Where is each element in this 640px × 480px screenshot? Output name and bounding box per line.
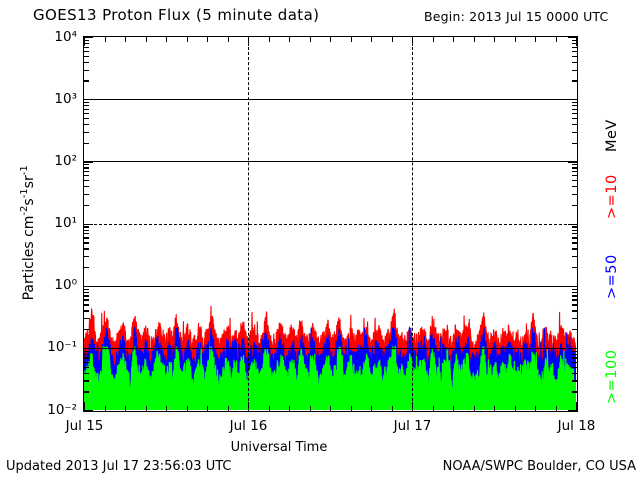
y-tick-label: 10⁰ bbox=[31, 277, 77, 293]
y-major-tick bbox=[84, 286, 93, 287]
y-minor-tick bbox=[84, 256, 89, 257]
day-divider bbox=[412, 37, 413, 411]
y-tick-label: 10⁻² bbox=[31, 402, 77, 418]
y-minor-tick bbox=[572, 230, 577, 231]
y-minor-tick bbox=[84, 80, 89, 81]
x-minor-tick bbox=[556, 406, 557, 411]
gridline-solid bbox=[84, 286, 577, 287]
x-minor-tick bbox=[453, 406, 454, 411]
x-major-tick bbox=[412, 37, 413, 46]
x-tick-label: Jul 18 bbox=[558, 418, 596, 434]
y-axis-exp-2: -1 bbox=[19, 188, 30, 198]
y-major-tick bbox=[568, 161, 577, 162]
y-minor-tick bbox=[84, 304, 89, 305]
y-minor-tick bbox=[572, 167, 577, 168]
x-major-tick bbox=[248, 402, 249, 411]
y-minor-tick bbox=[572, 143, 577, 144]
y-major-tick bbox=[568, 224, 577, 225]
y-minor-tick bbox=[84, 171, 89, 172]
y-major-tick bbox=[84, 410, 93, 411]
y-minor-tick bbox=[572, 233, 577, 234]
plot-area bbox=[84, 37, 577, 411]
y-minor-tick bbox=[84, 132, 89, 133]
x-minor-tick bbox=[371, 406, 372, 411]
y-minor-tick bbox=[84, 164, 89, 165]
y-minor-tick bbox=[572, 226, 577, 227]
threshold-line bbox=[84, 348, 577, 349]
y-minor-tick bbox=[572, 391, 577, 392]
x-minor-tick bbox=[207, 406, 208, 411]
x-minor-tick bbox=[474, 406, 475, 411]
x-axis-title: Universal Time bbox=[231, 440, 328, 455]
x-minor-tick bbox=[535, 406, 536, 411]
begin-timestamp: Begin: 2013 Jul 15 0000 UTC bbox=[424, 9, 608, 24]
y-minor-tick bbox=[84, 124, 89, 125]
gridline-solid bbox=[84, 99, 577, 100]
y-minor-tick bbox=[572, 289, 577, 290]
y-minor-tick bbox=[572, 295, 577, 296]
y-minor-tick bbox=[572, 318, 577, 319]
x-minor-tick bbox=[289, 406, 290, 411]
x-minor-tick bbox=[187, 406, 188, 411]
y-minor-tick bbox=[84, 102, 89, 103]
y-minor-tick bbox=[572, 175, 577, 176]
gridline-dashed bbox=[84, 224, 577, 225]
x-minor-tick bbox=[125, 406, 126, 411]
y-minor-tick bbox=[572, 102, 577, 103]
y-minor-tick bbox=[572, 109, 577, 110]
x-minor-tick bbox=[392, 37, 393, 42]
y-minor-tick bbox=[84, 205, 89, 206]
y-major-tick bbox=[84, 99, 93, 100]
x-minor-tick bbox=[146, 406, 147, 411]
y-minor-tick bbox=[84, 357, 89, 358]
x-minor-tick bbox=[515, 406, 516, 411]
y-minor-tick bbox=[84, 226, 89, 227]
y-axis-exp-3: -1 bbox=[19, 165, 30, 175]
y-minor-tick bbox=[84, 292, 89, 293]
y-minor-tick bbox=[84, 118, 89, 119]
y-axis-title-mid: s bbox=[21, 198, 37, 205]
x-minor-tick bbox=[269, 406, 270, 411]
x-minor-tick bbox=[207, 37, 208, 42]
y-minor-tick bbox=[572, 80, 577, 81]
y-minor-tick bbox=[84, 70, 89, 71]
x-major-tick bbox=[84, 402, 85, 411]
y-minor-tick bbox=[572, 354, 577, 355]
gridline-solid bbox=[84, 161, 577, 162]
y-minor-tick bbox=[84, 143, 89, 144]
legend-unit-label: MeV bbox=[604, 119, 620, 152]
x-minor-tick bbox=[515, 37, 516, 42]
y-major-tick bbox=[84, 224, 93, 225]
y-major-tick bbox=[84, 37, 93, 38]
x-tick-label: Jul 15 bbox=[66, 418, 104, 434]
legend-entry-label: >=10 bbox=[604, 174, 620, 219]
y-minor-tick bbox=[84, 310, 89, 311]
y-minor-tick bbox=[572, 362, 577, 363]
x-major-tick bbox=[84, 37, 85, 46]
y-minor-tick bbox=[572, 105, 577, 106]
y-minor-tick bbox=[572, 304, 577, 305]
y-minor-tick bbox=[84, 186, 89, 187]
x-minor-tick bbox=[433, 37, 434, 42]
y-minor-tick bbox=[572, 70, 577, 71]
x-minor-tick bbox=[166, 37, 167, 42]
y-axis-title-base: Particles cm bbox=[21, 216, 37, 301]
y-minor-tick bbox=[572, 47, 577, 48]
y-minor-tick bbox=[84, 299, 89, 300]
y-minor-tick bbox=[84, 391, 89, 392]
y-minor-tick bbox=[84, 295, 89, 296]
x-minor-tick bbox=[310, 37, 311, 42]
y-minor-tick bbox=[84, 267, 89, 268]
day-divider bbox=[248, 37, 249, 411]
y-tick-label: 10¹ bbox=[31, 215, 77, 231]
y-minor-tick bbox=[572, 205, 577, 206]
plot-frame bbox=[83, 36, 578, 412]
legend-entry-label: >=100 bbox=[604, 350, 620, 404]
y-minor-tick bbox=[84, 109, 89, 110]
y-minor-tick bbox=[572, 113, 577, 114]
x-minor-tick bbox=[453, 37, 454, 42]
y-minor-tick bbox=[84, 354, 89, 355]
page-title: GOES13 Proton Flux (5 minute data) bbox=[33, 6, 319, 24]
x-major-tick bbox=[576, 37, 577, 46]
y-minor-tick bbox=[84, 56, 89, 57]
y-minor-tick bbox=[572, 267, 577, 268]
x-minor-tick bbox=[105, 37, 106, 42]
source-credit: NOAA/SWPC Boulder, CO USA bbox=[443, 459, 636, 474]
y-minor-tick bbox=[572, 367, 577, 368]
x-minor-tick bbox=[187, 37, 188, 42]
y-major-tick bbox=[568, 286, 577, 287]
y-major-tick bbox=[568, 99, 577, 100]
y-minor-tick bbox=[84, 373, 89, 374]
x-major-tick bbox=[412, 402, 413, 411]
x-tick-label: Jul 16 bbox=[230, 418, 268, 434]
y-minor-tick bbox=[572, 256, 577, 257]
x-major-tick bbox=[248, 37, 249, 46]
y-minor-tick bbox=[84, 230, 89, 231]
y-minor-tick bbox=[572, 124, 577, 125]
x-minor-tick bbox=[433, 406, 434, 411]
y-minor-tick bbox=[84, 242, 89, 243]
y-minor-tick bbox=[84, 180, 89, 181]
y-minor-tick bbox=[572, 180, 577, 181]
y-minor-tick bbox=[84, 318, 89, 319]
y-minor-tick bbox=[572, 380, 577, 381]
y-minor-tick bbox=[84, 51, 89, 52]
y-minor-tick bbox=[84, 47, 89, 48]
y-minor-tick bbox=[572, 194, 577, 195]
y-major-tick bbox=[84, 161, 93, 162]
y-minor-tick bbox=[572, 171, 577, 172]
x-minor-tick bbox=[474, 37, 475, 42]
y-minor-tick bbox=[572, 237, 577, 238]
updated-timestamp: Updated 2013 Jul 17 23:56:03 UTC bbox=[6, 459, 231, 474]
legend-entry-label: >=50 bbox=[604, 254, 620, 299]
x-minor-tick bbox=[228, 406, 229, 411]
y-tick-label: 10⁴ bbox=[31, 29, 77, 45]
x-minor-tick bbox=[105, 406, 106, 411]
y-minor-tick bbox=[84, 237, 89, 238]
y-minor-tick bbox=[84, 362, 89, 363]
y-minor-tick bbox=[572, 118, 577, 119]
x-minor-tick bbox=[330, 406, 331, 411]
y-axis-title-mid2: sr bbox=[21, 175, 37, 188]
y-minor-tick bbox=[84, 248, 89, 249]
y-minor-tick bbox=[84, 329, 89, 330]
y-minor-tick bbox=[572, 56, 577, 57]
x-minor-tick bbox=[310, 406, 311, 411]
y-minor-tick bbox=[84, 367, 89, 368]
x-minor-tick bbox=[556, 37, 557, 42]
y-minor-tick bbox=[84, 105, 89, 106]
y-minor-tick bbox=[84, 233, 89, 234]
y-minor-tick bbox=[572, 242, 577, 243]
y-minor-tick bbox=[572, 248, 577, 249]
y-minor-tick bbox=[84, 194, 89, 195]
y-tick-label: 10⁻¹ bbox=[31, 339, 77, 355]
x-minor-tick bbox=[146, 37, 147, 42]
y-minor-tick bbox=[572, 310, 577, 311]
x-minor-tick bbox=[228, 37, 229, 42]
x-minor-tick bbox=[269, 37, 270, 42]
y-tick-label: 10² bbox=[31, 153, 77, 169]
x-minor-tick bbox=[494, 37, 495, 42]
y-minor-tick bbox=[572, 51, 577, 52]
y-minor-tick bbox=[572, 373, 577, 374]
y-minor-tick bbox=[572, 132, 577, 133]
y-minor-tick bbox=[572, 329, 577, 330]
x-minor-tick bbox=[392, 406, 393, 411]
y-minor-tick bbox=[572, 164, 577, 165]
x-minor-tick bbox=[330, 37, 331, 42]
x-minor-tick bbox=[125, 37, 126, 42]
y-minor-tick bbox=[572, 299, 577, 300]
y-minor-tick bbox=[84, 380, 89, 381]
y-minor-tick bbox=[572, 351, 577, 352]
x-minor-tick bbox=[166, 406, 167, 411]
proton-flux-plot-page: GOES13 Proton Flux (5 minute data) Begin… bbox=[0, 0, 640, 480]
y-minor-tick bbox=[84, 175, 89, 176]
x-minor-tick bbox=[371, 37, 372, 42]
y-minor-tick bbox=[84, 62, 89, 63]
x-minor-tick bbox=[351, 406, 352, 411]
y-minor-tick bbox=[84, 289, 89, 290]
x-minor-tick bbox=[289, 37, 290, 42]
y-minor-tick bbox=[84, 113, 89, 114]
x-major-tick bbox=[576, 402, 577, 411]
y-minor-tick bbox=[572, 186, 577, 187]
y-minor-tick bbox=[572, 357, 577, 358]
x-minor-tick bbox=[351, 37, 352, 42]
y-minor-tick bbox=[84, 351, 89, 352]
y-axis-title: Particles cm-2s-1sr-1 bbox=[19, 113, 37, 353]
y-minor-tick bbox=[572, 62, 577, 63]
y-axis-exp-1: -2 bbox=[19, 206, 30, 216]
x-minor-tick bbox=[535, 37, 536, 42]
x-minor-tick bbox=[494, 406, 495, 411]
y-minor-tick bbox=[84, 167, 89, 168]
y-tick-label: 10³ bbox=[31, 91, 77, 107]
y-minor-tick bbox=[572, 292, 577, 293]
x-tick-label: Jul 17 bbox=[394, 418, 432, 434]
